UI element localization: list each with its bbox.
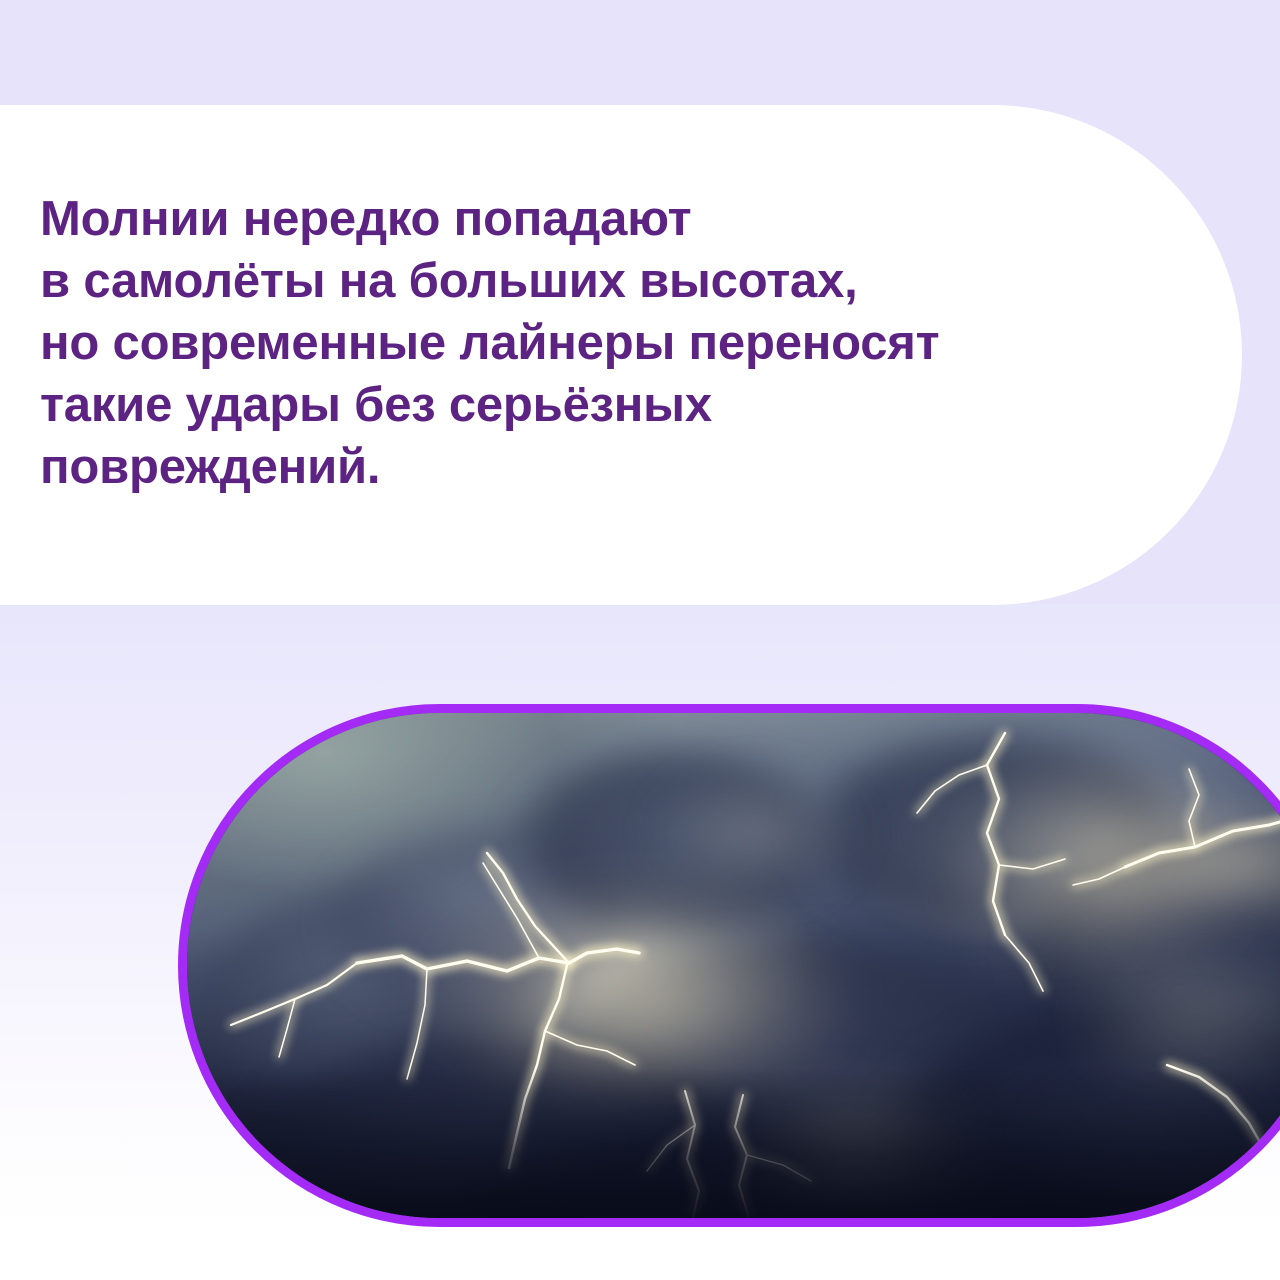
poster-canvas: Молнии нередко попадают в самолёты на бо…	[0, 0, 1280, 1280]
quote-card: Молнии нередко попадают в самолёты на бо…	[0, 105, 1242, 605]
storm-photo	[187, 713, 1280, 1218]
photo-bottom-shadow	[187, 1068, 1280, 1218]
lightning-image-card	[178, 704, 1280, 1227]
quote-text: Молнии нередко попадают в самолёты на бо…	[40, 188, 1200, 498]
